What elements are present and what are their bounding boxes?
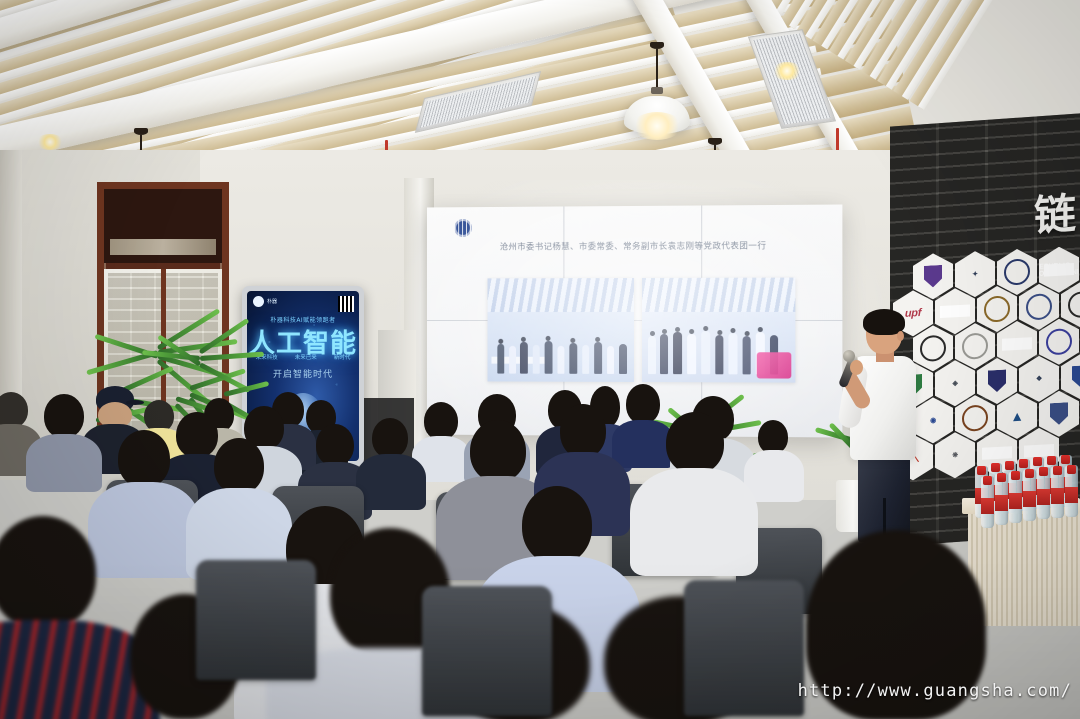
window-transom: [104, 189, 222, 263]
poster-tag-3: 新时代: [334, 353, 351, 361]
slide-photo-right: [642, 278, 795, 383]
slide-photo-pink-chair: [757, 352, 792, 378]
partner-university-hexagon-wall: ✦ REPUBLIC POLYTECHNIC upf CityU ◈ ❖ ◉: [905, 245, 1080, 455]
presentation-room-photo: 链 ✦ REPUBLIC POLYTECHNIC upf CityU ◈ ❖: [0, 0, 1080, 719]
presenter: [840, 312, 924, 542]
logo-label: REPUBLIC POLYTECHNIC: [1044, 263, 1074, 277]
ceiling-downlight-1: [36, 134, 64, 150]
pendant-lamp-3: [620, 42, 694, 148]
presenter-hand: [850, 360, 863, 375]
poster-tag-2: 未来已来: [295, 353, 317, 361]
logo-label: CityU: [940, 304, 970, 318]
audience-chair-foreground: [196, 560, 316, 680]
wall-character: 链: [1034, 180, 1076, 244]
logo-tile: ❋: [935, 431, 975, 479]
watermark-url: http://www.guangsha.com/: [798, 681, 1072, 701]
slide-photo-left: [488, 278, 634, 382]
sprinkler-pipe-3: [836, 128, 839, 152]
poster-brand-mark: [253, 296, 264, 307]
poster-brand-text: 朴器: [267, 298, 277, 305]
water-bottle-pack: [975, 452, 1075, 512]
qr-code-icon[interactable]: [338, 296, 354, 312]
poster-brand: 朴器: [253, 296, 277, 307]
ceiling-downlight-2: [772, 62, 802, 80]
audience-chair-foreground: [684, 580, 804, 716]
company-circle-logo-ring: [454, 219, 472, 237]
slide-title: 沧州市委书记杨慧、市委常委、常务副市长袁志刚等党政代表团一行: [427, 239, 842, 253]
audience-chair-foreground: [422, 586, 552, 716]
